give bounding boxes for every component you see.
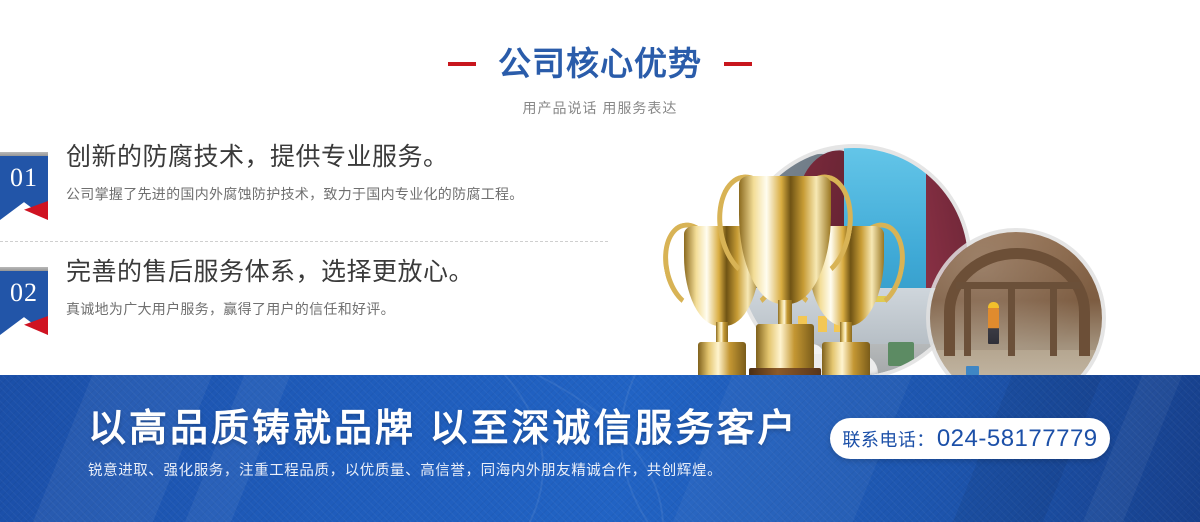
trophy-group xyxy=(662,148,912,386)
contact-phone-pill[interactable]: 联系电话： 024-58177779 xyxy=(830,418,1110,459)
page-title: 公司核心优势 xyxy=(498,44,702,84)
site-post-shape xyxy=(1008,286,1015,356)
site-beam-shape xyxy=(956,282,1080,289)
feature-title: 创新的防腐技术，提供专业服务。 xyxy=(66,140,626,174)
page-subtitle: 用产品说话 用服务表达 xyxy=(0,98,1200,118)
worker-helmet-shape xyxy=(988,302,999,308)
banner-slogan: 以高品质铸就品牌 以至深诚信服务客户 xyxy=(88,405,799,453)
feature-description: 公司掌握了先进的国内外腐蚀防护技术，致力于国内专业化的防腐工程。 xyxy=(66,184,626,204)
site-post-shape xyxy=(964,286,971,356)
feature-text-02: 完善的售后服务体系，选择更放心。 真诚地为广大用户服务，赢得了用户的信任和好评。 xyxy=(66,255,626,319)
site-post-shape xyxy=(1050,286,1057,356)
contact-phone-label: 联系电话： xyxy=(842,426,935,452)
trophy-stem xyxy=(778,300,792,326)
feature-list: 01 创新的防腐技术，提供专业服务。 公司掌握了先进的国内外腐蚀防护技术，致力于… xyxy=(0,140,640,355)
title-row: 公司核心优势 xyxy=(0,44,1200,84)
feature-item-02: 02 完善的售后服务体系，选择更放心。 真诚地为广大用户服务，赢得了用户的信任和… xyxy=(0,255,640,355)
feature-number: 01 xyxy=(0,164,48,192)
feature-badge-02: 02 xyxy=(0,267,48,335)
section-header: 公司核心优势 用产品说话 用服务表达 xyxy=(0,0,1200,130)
worker-figure-shape xyxy=(988,306,999,344)
trophy-bowl xyxy=(739,176,831,304)
feature-number: 02 xyxy=(0,279,48,307)
feature-description: 真诚地为广大用户服务，赢得了用户的信任和好评。 xyxy=(66,299,626,319)
feature-item-01: 01 创新的防腐技术，提供专业服务。 公司掌握了先进的国内外腐蚀防护技术，致力于… xyxy=(0,140,640,240)
feature-title: 完善的售后服务体系，选择更放心。 xyxy=(66,255,626,289)
trophy-center xyxy=(724,158,846,386)
company-advantages-section: 公司核心优势 用产品说话 用服务表达 xyxy=(0,0,1200,522)
feature-divider xyxy=(0,241,608,242)
feature-text-01: 创新的防腐技术，提供专业服务。 公司掌握了先进的国内外腐蚀防护技术，致力于国内专… xyxy=(66,140,626,204)
title-dash-right-icon xyxy=(724,62,752,66)
contact-phone-number: 024-58177779 xyxy=(937,425,1098,453)
trophy-base xyxy=(756,324,814,370)
title-dash-left-icon xyxy=(448,62,476,66)
banner-slogan-sub: 锐意进取、强化服务，注重工程品质，以优质量、高信誉，同海内外朋友精诚合作，共创辉… xyxy=(88,460,722,482)
contact-phone-inner: 联系电话： 024-58177779 xyxy=(842,425,1097,453)
feature-badge-01: 01 xyxy=(0,152,48,220)
